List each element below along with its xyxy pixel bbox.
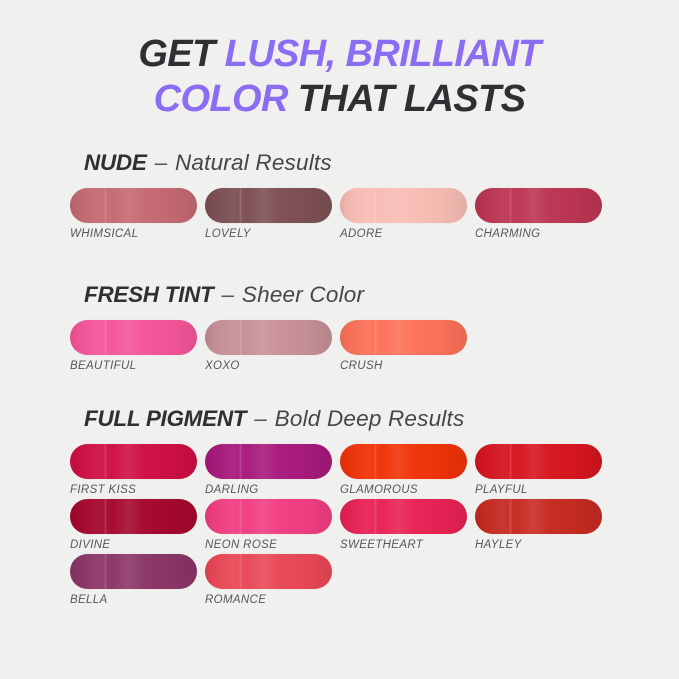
shade-color-swatch[interactable] <box>205 320 332 355</box>
section-title: FULL PIGMENT <box>84 406 246 431</box>
shade-swatch-cell[interactable]: BEAUTIFUL <box>70 320 205 372</box>
shade-name-label: ROMANCE <box>205 594 340 606</box>
shade-swatch-cell[interactable]: ROMANCE <box>205 554 340 606</box>
swatch-row: FIRST KISSDARLINGGLAMOROUSPLAYFUL <box>70 444 679 499</box>
shade-color-swatch[interactable] <box>70 188 197 223</box>
shade-name-label: DARLING <box>205 484 340 496</box>
shade-color-swatch[interactable] <box>70 320 197 355</box>
shade-color-swatch[interactable] <box>205 554 332 589</box>
shade-name-label: SWEETHEART <box>340 539 475 551</box>
shade-name-label: GLAMOROUS <box>340 484 475 496</box>
shade-color-swatch[interactable] <box>475 444 602 479</box>
swatch-grid: WHIMSICALLOVELYADORECHARMING <box>0 188 679 243</box>
shade-name-label: LOVELY <box>205 228 340 240</box>
product-shade-chart: GET LUSH, BRILLIANT COLOR THAT LASTS NUD… <box>0 0 679 679</box>
shade-color-swatch[interactable] <box>340 320 467 355</box>
shade-color-swatch[interactable] <box>340 188 467 223</box>
shade-color-swatch[interactable] <box>340 444 467 479</box>
swatch-row: DIVINENEON ROSESWEETHEARTHAYLEY <box>70 499 679 554</box>
shade-swatch-cell[interactable]: HAYLEY <box>475 499 610 551</box>
section-subtitle: Bold Deep Results <box>275 406 465 431</box>
shade-swatch-cell[interactable]: WHIMSICAL <box>70 188 205 240</box>
shade-color-swatch[interactable] <box>70 444 197 479</box>
shade-name-label: PLAYFUL <box>475 484 610 496</box>
page-title: GET LUSH, BRILLIANT COLOR THAT LASTS <box>0 32 679 122</box>
section-title-separator: – <box>214 282 242 307</box>
shade-swatch-cell[interactable]: ADORE <box>340 188 475 240</box>
shade-swatch-cell[interactable]: CHARMING <box>475 188 610 240</box>
shade-swatch-cell[interactable]: BELLA <box>70 554 205 606</box>
section-subtitle: Natural Results <box>175 150 332 175</box>
page-title-line-1: GET LUSH, BRILLIANT <box>0 32 679 77</box>
swatch-row: BEAUTIFULXOXOCRUSH <box>70 320 679 375</box>
section-title: NUDE <box>84 150 147 175</box>
page-title-segment-accent: COLOR <box>154 78 288 120</box>
page-title-line-2: COLOR THAT LASTS <box>0 77 679 122</box>
page-title-segment-accent: LUSH, BRILLIANT <box>225 33 541 75</box>
shade-section-nude: NUDE – Natural ResultsWHIMSICALLOVELYADO… <box>0 150 679 243</box>
swatch-row: WHIMSICALLOVELYADORECHARMING <box>70 188 679 243</box>
shade-swatch-cell[interactable]: SWEETHEART <box>340 499 475 551</box>
swatch-grid: FIRST KISSDARLINGGLAMOROUSPLAYFULDIVINEN… <box>0 444 679 609</box>
page-title-segment: THAT LASTS <box>288 78 526 120</box>
section-title: FRESH TINT <box>84 282 214 307</box>
section-subtitle: Sheer Color <box>242 282 364 307</box>
shade-swatch-cell[interactable]: GLAMOROUS <box>340 444 475 496</box>
shade-swatch-cell[interactable]: CRUSH <box>340 320 475 372</box>
shade-swatch-cell[interactable]: FIRST KISS <box>70 444 205 496</box>
shade-name-label: DIVINE <box>70 539 205 551</box>
shade-name-label: WHIMSICAL <box>70 228 205 240</box>
shade-color-swatch[interactable] <box>475 499 602 534</box>
shade-swatch-cell[interactable]: XOXO <box>205 320 340 372</box>
shade-name-label: ADORE <box>340 228 475 240</box>
shade-name-label: CHARMING <box>475 228 610 240</box>
swatch-grid: BEAUTIFULXOXOCRUSH <box>0 320 679 375</box>
swatch-row: BELLAROMANCE <box>70 554 679 609</box>
shade-name-label: BEAUTIFUL <box>70 360 205 372</box>
shade-swatch-cell[interactable]: DIVINE <box>70 499 205 551</box>
section-title-separator: – <box>147 150 175 175</box>
shade-swatch-cell[interactable]: DARLING <box>205 444 340 496</box>
shade-color-swatch[interactable] <box>70 499 197 534</box>
shade-color-swatch[interactable] <box>475 188 602 223</box>
section-header-fresh-tint: FRESH TINT – Sheer Color <box>84 282 679 308</box>
shade-swatch-cell[interactable]: NEON ROSE <box>205 499 340 551</box>
shade-name-label: XOXO <box>205 360 340 372</box>
shade-name-label: NEON ROSE <box>205 539 340 551</box>
shade-name-label: FIRST KISS <box>70 484 205 496</box>
section-header-nude: NUDE – Natural Results <box>84 150 679 176</box>
shade-name-label: HAYLEY <box>475 539 610 551</box>
shade-section-full-pigment: FULL PIGMENT – Bold Deep ResultsFIRST KI… <box>0 406 679 609</box>
section-header-full-pigment: FULL PIGMENT – Bold Deep Results <box>84 406 679 432</box>
shade-swatch-cell[interactable]: PLAYFUL <box>475 444 610 496</box>
shade-name-label: CRUSH <box>340 360 475 372</box>
shade-section-fresh-tint: FRESH TINT – Sheer ColorBEAUTIFULXOXOCRU… <box>0 282 679 375</box>
shade-color-swatch[interactable] <box>205 188 332 223</box>
shade-swatch-cell[interactable]: LOVELY <box>205 188 340 240</box>
shade-color-swatch[interactable] <box>205 499 332 534</box>
shade-color-swatch[interactable] <box>70 554 197 589</box>
page-title-segment: GET <box>138 33 224 75</box>
shade-name-label: BELLA <box>70 594 205 606</box>
shade-color-swatch[interactable] <box>340 499 467 534</box>
section-title-separator: – <box>246 406 274 431</box>
shade-color-swatch[interactable] <box>205 444 332 479</box>
